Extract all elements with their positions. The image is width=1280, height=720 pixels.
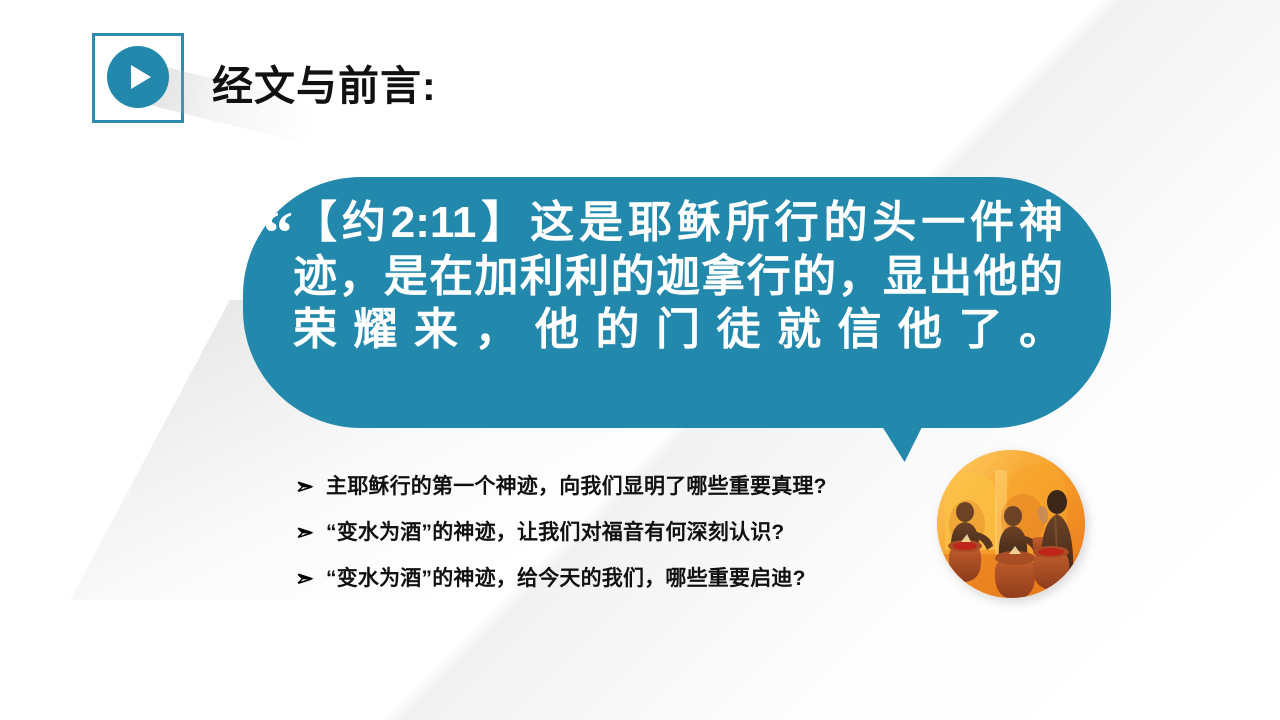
scripture-verse-text: 【约2:11】这是耶稣所行的头一件神迹，是在加利利的迦拿行的，显出他的荣耀来，他… xyxy=(293,196,1063,357)
open-quote-icon: “ xyxy=(263,210,291,257)
slide-header: 经文与前言: xyxy=(0,0,1280,150)
play-triangle-glyph xyxy=(131,65,151,89)
list-item-label: “变水为酒”的神迹，给今天的我们，哪些重要启迪? xyxy=(326,562,806,592)
list-item: ➢ “变水为酒”的神迹，让我们对福音有何深刻认识? xyxy=(296,516,936,544)
play-icon xyxy=(107,46,169,108)
illustration-wrapper xyxy=(937,450,1085,598)
speech-bubble-content: “ 【约2:11】这是耶稣所行的头一件神迹，是在加利利的迦拿行的，显出他的荣耀来… xyxy=(263,196,1093,414)
arrow-bullet-icon: ➢ xyxy=(296,476,326,496)
list-item: ➢ “变水为酒”的神迹，给今天的我们，哪些重要启迪? xyxy=(296,562,936,590)
arrow-bullet-icon: ➢ xyxy=(296,568,326,588)
arrow-bullet-icon: ➢ xyxy=(296,522,326,542)
slide-canvas: 经文与前言: “ 【约2:11】这是耶稣所行的头一件神迹，是在加利利的迦拿行的，… xyxy=(0,0,1280,720)
water-to-wine-illustration xyxy=(937,450,1085,598)
list-item: ➢ 主耶稣行的第一个神迹，向我们显明了哪些重要真理? xyxy=(296,470,936,498)
list-item-label: “变水为酒”的神迹，让我们对福音有何深刻认识? xyxy=(326,516,784,546)
page-title: 经文与前言: xyxy=(212,52,437,112)
question-list: ➢ 主耶稣行的第一个神迹，向我们显明了哪些重要真理? ➢ “变水为酒”的神迹，让… xyxy=(296,470,936,608)
list-item-label: 主耶稣行的第一个神迹，向我们显明了哪些重要真理? xyxy=(326,470,827,500)
